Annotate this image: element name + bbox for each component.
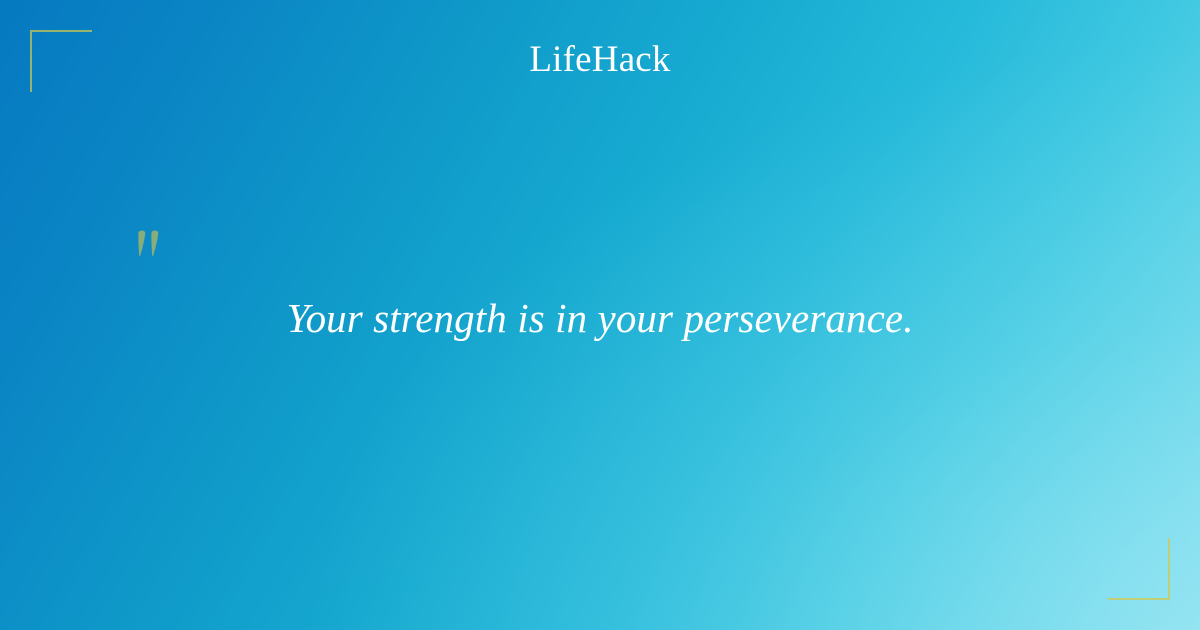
quote-text: Your strength is in your perseverance. (150, 292, 1050, 344)
corner-bracket-bottom-right-icon (1108, 538, 1170, 600)
quote-card: LifeHack Your strength is in your persev… (0, 0, 1200, 630)
quote-mark-icon (133, 229, 173, 269)
brand-logo: LifeHack (0, 40, 1200, 81)
